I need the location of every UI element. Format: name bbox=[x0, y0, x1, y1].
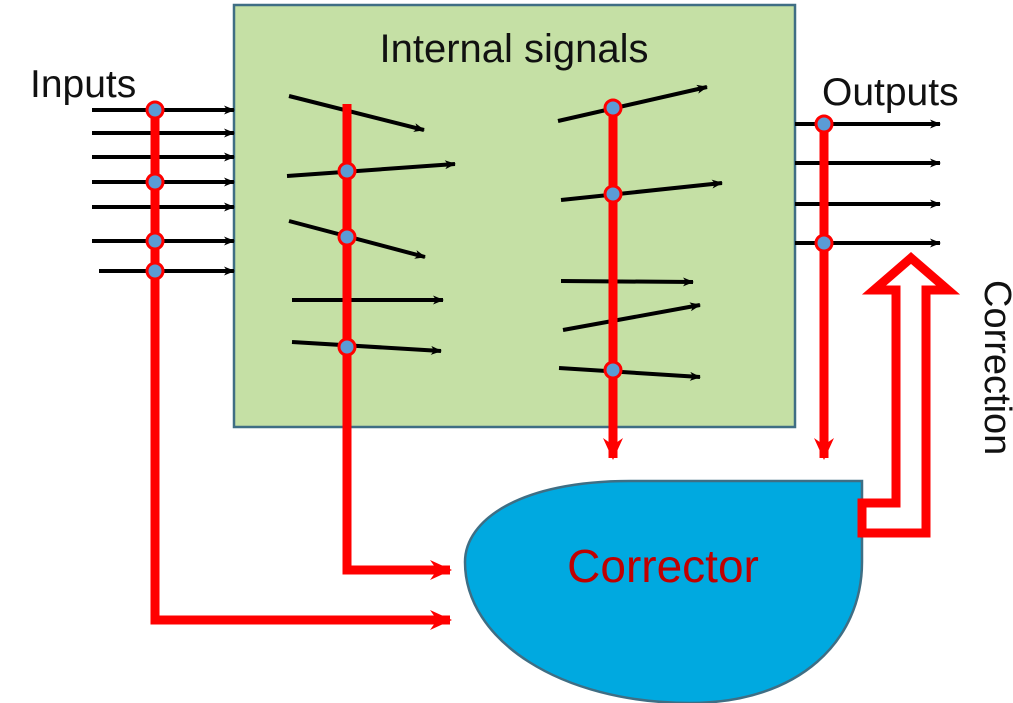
internal-signals-title: Internal signals bbox=[379, 27, 648, 71]
correction-label: Correction bbox=[976, 280, 1013, 455]
correction-feedback-block-arrow bbox=[862, 258, 948, 533]
block-diagram-svg: Internal signals Inputs Outputs bbox=[0, 0, 1013, 703]
tap-node[interactable] bbox=[339, 339, 355, 355]
tap-node[interactable] bbox=[816, 116, 832, 132]
tap-node[interactable] bbox=[147, 263, 163, 279]
outputs-label: Outputs bbox=[822, 71, 959, 114]
diagram-canvas: Internal signals Inputs Outputs bbox=[0, 0, 1013, 703]
corrector-shape[interactable] bbox=[465, 481, 862, 703]
tap-node[interactable] bbox=[147, 174, 163, 190]
internal-signal-arrow bbox=[561, 281, 693, 282]
input-arrow-group bbox=[92, 110, 234, 271]
tap-node[interactable] bbox=[605, 362, 621, 378]
corrector-label: Corrector bbox=[567, 540, 759, 592]
tap-node[interactable] bbox=[605, 100, 621, 116]
tap-node[interactable] bbox=[339, 163, 355, 179]
tap-node[interactable] bbox=[147, 233, 163, 249]
tap-node[interactable] bbox=[816, 235, 832, 251]
tap-node[interactable] bbox=[339, 229, 355, 245]
inputs-label: Inputs bbox=[30, 63, 136, 106]
output-arrow-group bbox=[795, 124, 940, 243]
tap-node[interactable] bbox=[605, 186, 621, 202]
tap-node[interactable] bbox=[147, 102, 163, 118]
